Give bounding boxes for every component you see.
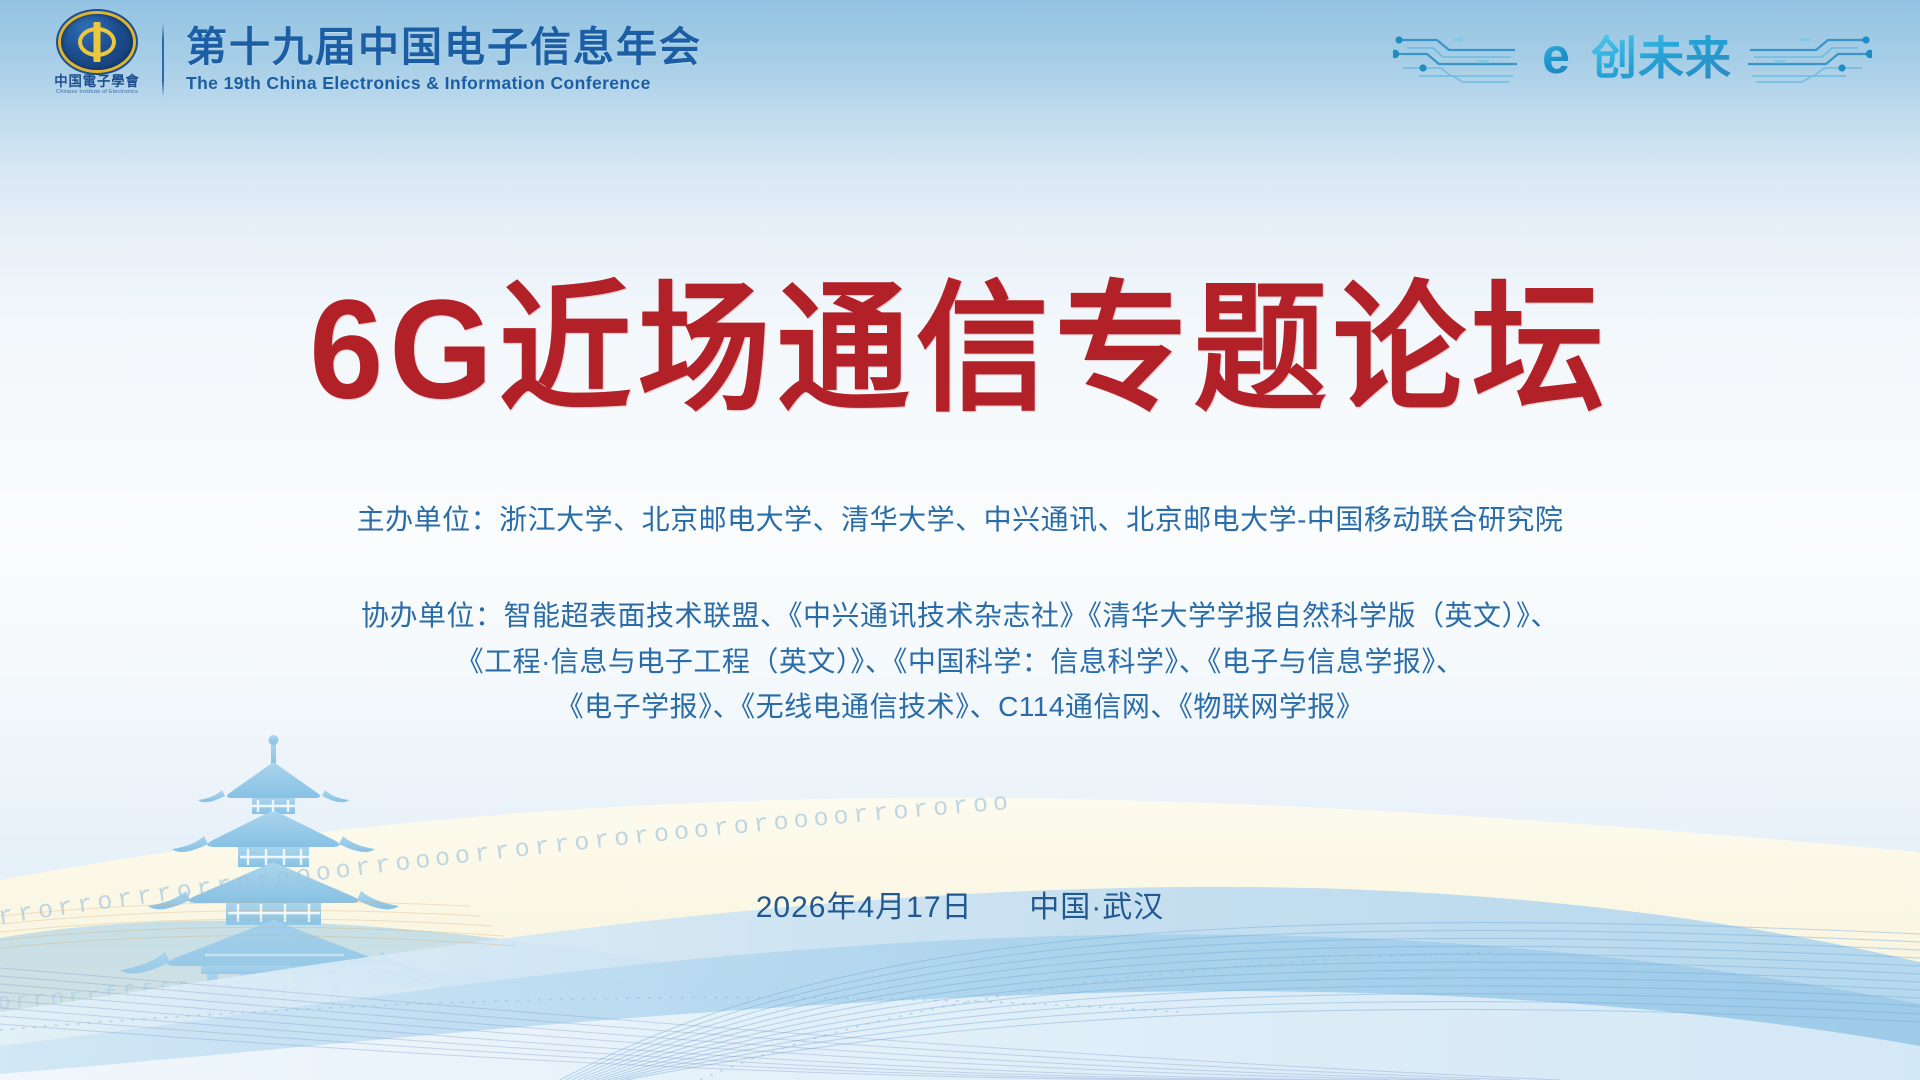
header-divider — [162, 23, 164, 97]
e-future-logo[interactable]: e 创未来 — [1393, 26, 1872, 90]
event-location: 中国·武汉 — [1029, 891, 1164, 924]
cie-ring-icon — [61, 14, 133, 70]
cie-logo-chinese: 中国電子學會 — [54, 74, 140, 88]
conference-title-chinese: 第十九届中国电子信息年会 — [186, 26, 702, 69]
cohost-line-3: 《电子学报》、《无线电通信技术》、C114通信网、《物联网学报》 — [0, 684, 1920, 729]
date-location-line: 2026年4月17日 中国·武汉 — [0, 882, 1920, 926]
forum-title-text: 6G近场通信专题论坛 — [309, 280, 1610, 421]
forum-title: 6G近场通信专题论坛 — [0, 284, 1920, 417]
info-block: 主办单位：浙江大学、北京邮电大学、清华大学、中兴通讯、北京邮电大学-中国移动联合… — [0, 500, 1920, 729]
circuit-trace-right-icon — [1744, 30, 1872, 86]
header-bar: 中国電子學會 Chinese Institute of Electronics … — [0, 0, 1920, 118]
cohost-line-1: 协办单位：智能超表面技术联盟、《中兴通讯技术杂志社》《清华大学学报自然科学版（英… — [0, 593, 1920, 638]
cohost-organizations: 协办单位：智能超表面技术联盟、《中兴通讯技术杂志社》《清华大学学报自然科学版（英… — [0, 593, 1920, 729]
conference-title-english: The 19th China Electronics & Information… — [186, 74, 702, 93]
e-letter-icon: e — [1533, 35, 1579, 81]
event-date: 2026年4月17日 — [756, 891, 973, 924]
cie-bar-icon — [94, 22, 101, 62]
cohost-line-2: 《工程·信息与电子工程（英文）》、《中国科学：信息科学》、《电子与信息学报》、 — [0, 639, 1920, 684]
circuit-trace-left-icon — [1393, 30, 1521, 86]
conference-title-block: 第十九届中国电子信息年会 The 19th China Electronics … — [186, 26, 702, 93]
cie-logo-group[interactable]: 中国電子學會 Chinese Institute of Electronics … — [52, 12, 702, 108]
cie-emblem: 中国電子學會 Chinese Institute of Electronics — [52, 14, 142, 106]
cie-logo-english: Chinese Institute of Electronics — [56, 90, 138, 96]
future-logo-text: 创未来 — [1591, 35, 1732, 81]
banner-stage: rorrorrorrrorroroooorroooorrorrororoooro… — [0, 0, 1920, 1080]
host-organizations: 主办单位：浙江大学、北京邮电大学、清华大学、中兴通讯、北京邮电大学-中国移动联合… — [0, 500, 1920, 539]
